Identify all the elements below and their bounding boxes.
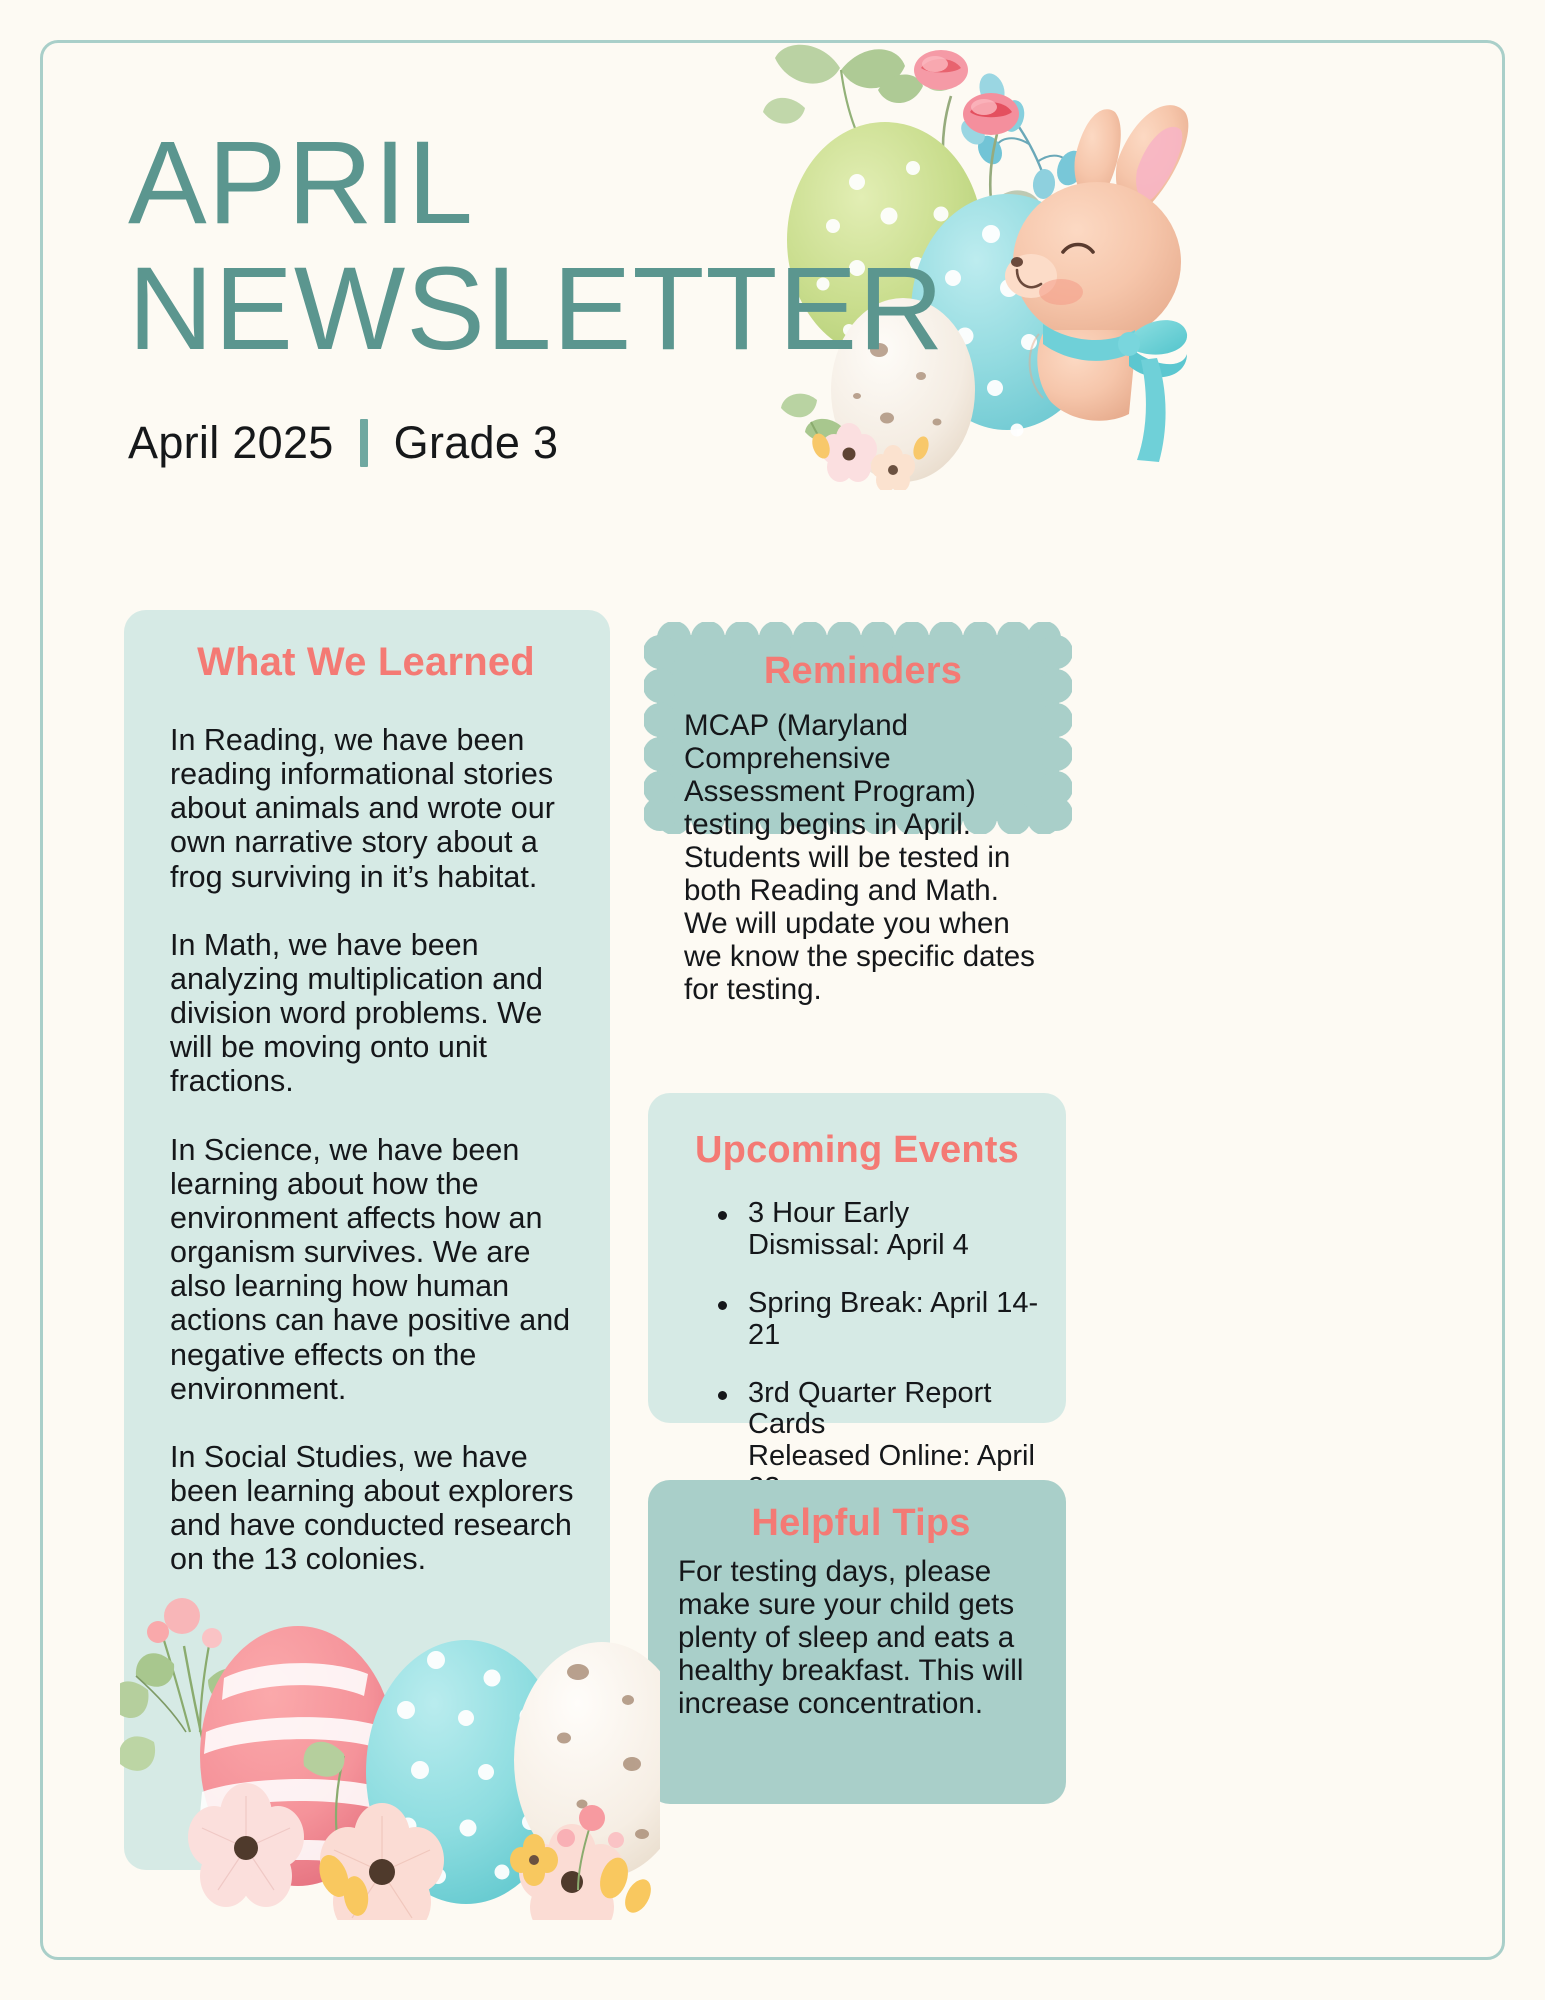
newsletter-page: APRIL NEWSLETTER April 2025 Grade 3 What… xyxy=(0,0,1545,2000)
helpful-tips-title: Helpful Tips xyxy=(678,1502,1044,1545)
card-upcoming-events: Upcoming Events 3 Hour Early Dismissal: … xyxy=(648,1093,1066,1423)
what-we-learned-title: What We Learned xyxy=(152,640,580,685)
page-title: APRIL NEWSLETTER xyxy=(128,120,1418,373)
reminders-body: MCAP (Maryland Comprehensive Assessment … xyxy=(684,709,1042,1006)
card-reminders: Reminders MCAP (Maryland Comprehensive A… xyxy=(644,622,1072,834)
grade-label: Grade 3 xyxy=(394,417,559,469)
upcoming-events-list: 3 Hour Early Dismissal: April 4 Spring B… xyxy=(672,1198,1042,1505)
subtitle-row: April 2025 Grade 3 xyxy=(128,417,1418,469)
event-report-cards: 3rd Quarter Report Cards xyxy=(748,1377,991,1441)
learned-paragraph-science: In Science, we have been learning about … xyxy=(170,1133,574,1406)
card-helpful-tips: Helpful Tips For testing days, please ma… xyxy=(648,1480,1066,1804)
subtitle-divider xyxy=(360,419,368,467)
helpful-tips-body: For testing days, please make sure your … xyxy=(678,1555,1044,1720)
event-spring-break: Spring Break: April 14-21 xyxy=(748,1287,1038,1351)
issue-date: April 2025 xyxy=(128,417,334,469)
list-item: 3 Hour Early Dismissal: April 4 xyxy=(718,1198,1042,1262)
upcoming-events-title: Upcoming Events xyxy=(672,1129,1042,1172)
event-dismissal: 3 Hour Early Dismissal: April 4 xyxy=(748,1197,969,1261)
learned-paragraph-reading: In Reading, we have been reading informa… xyxy=(170,723,574,894)
newsletter-header: APRIL NEWSLETTER April 2025 Grade 3 xyxy=(128,120,1418,469)
learned-paragraph-social-studies: In Social Studies, we have been learning… xyxy=(170,1440,574,1577)
reminders-title: Reminders xyxy=(684,650,1042,693)
card-what-we-learned: What We Learned In Reading, we have been… xyxy=(124,610,610,1870)
learned-paragraph-math: In Math, we have been analyzing multipli… xyxy=(170,928,574,1099)
what-we-learned-body: In Reading, we have been reading informa… xyxy=(152,723,580,1576)
list-item: Spring Break: April 14-21 xyxy=(718,1288,1042,1352)
